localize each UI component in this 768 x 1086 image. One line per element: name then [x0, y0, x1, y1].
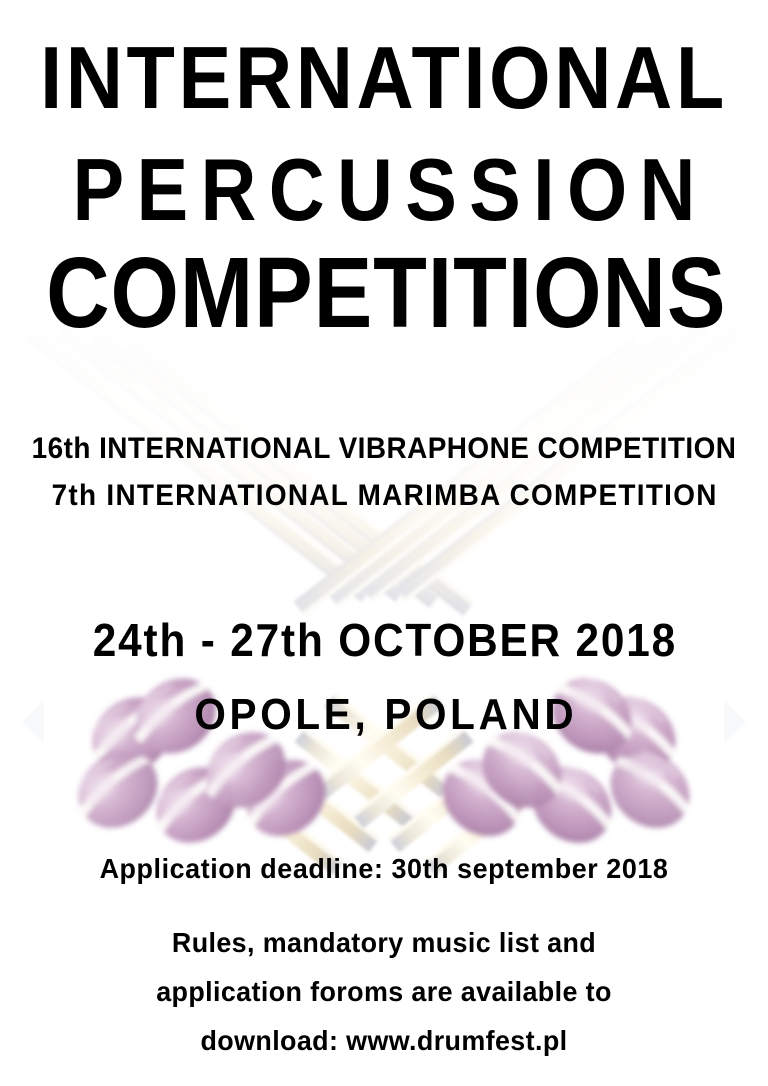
footer-line-3: download: www.drumfest.pl — [15, 1027, 752, 1055]
poster-canvas: INTERNATIONAL PERCUSSION COMPETITIONS 16… — [0, 0, 768, 1086]
poster-text-layer: INTERNATIONAL PERCUSSION COMPETITIONS 16… — [0, 0, 768, 1086]
application-deadline: Application deadline: 30th september 201… — [15, 855, 752, 883]
footer-line-1: Rules, mandatory music list and — [15, 929, 752, 957]
headline-line-competitions: COMPETITIONS — [46, 243, 722, 343]
footer-line-2: application foroms are available to — [15, 978, 752, 1006]
event-dates: 24th - 27th OCTOBER 2018 — [31, 617, 738, 663]
subtitle-marimba-competition: 7th INTERNATIONAL MARIMBA COMPETITION — [27, 481, 741, 511]
event-location: OPOLE, POLAND — [31, 693, 738, 737]
headline-line-percussion: PERCUSSION — [46, 146, 722, 234]
subtitle-vibraphone-competition: 16th INTERNATIONAL VIBRAPHONE COMPETITIO… — [27, 434, 741, 464]
headline-line-international: INTERNATIONAL — [38, 34, 729, 122]
